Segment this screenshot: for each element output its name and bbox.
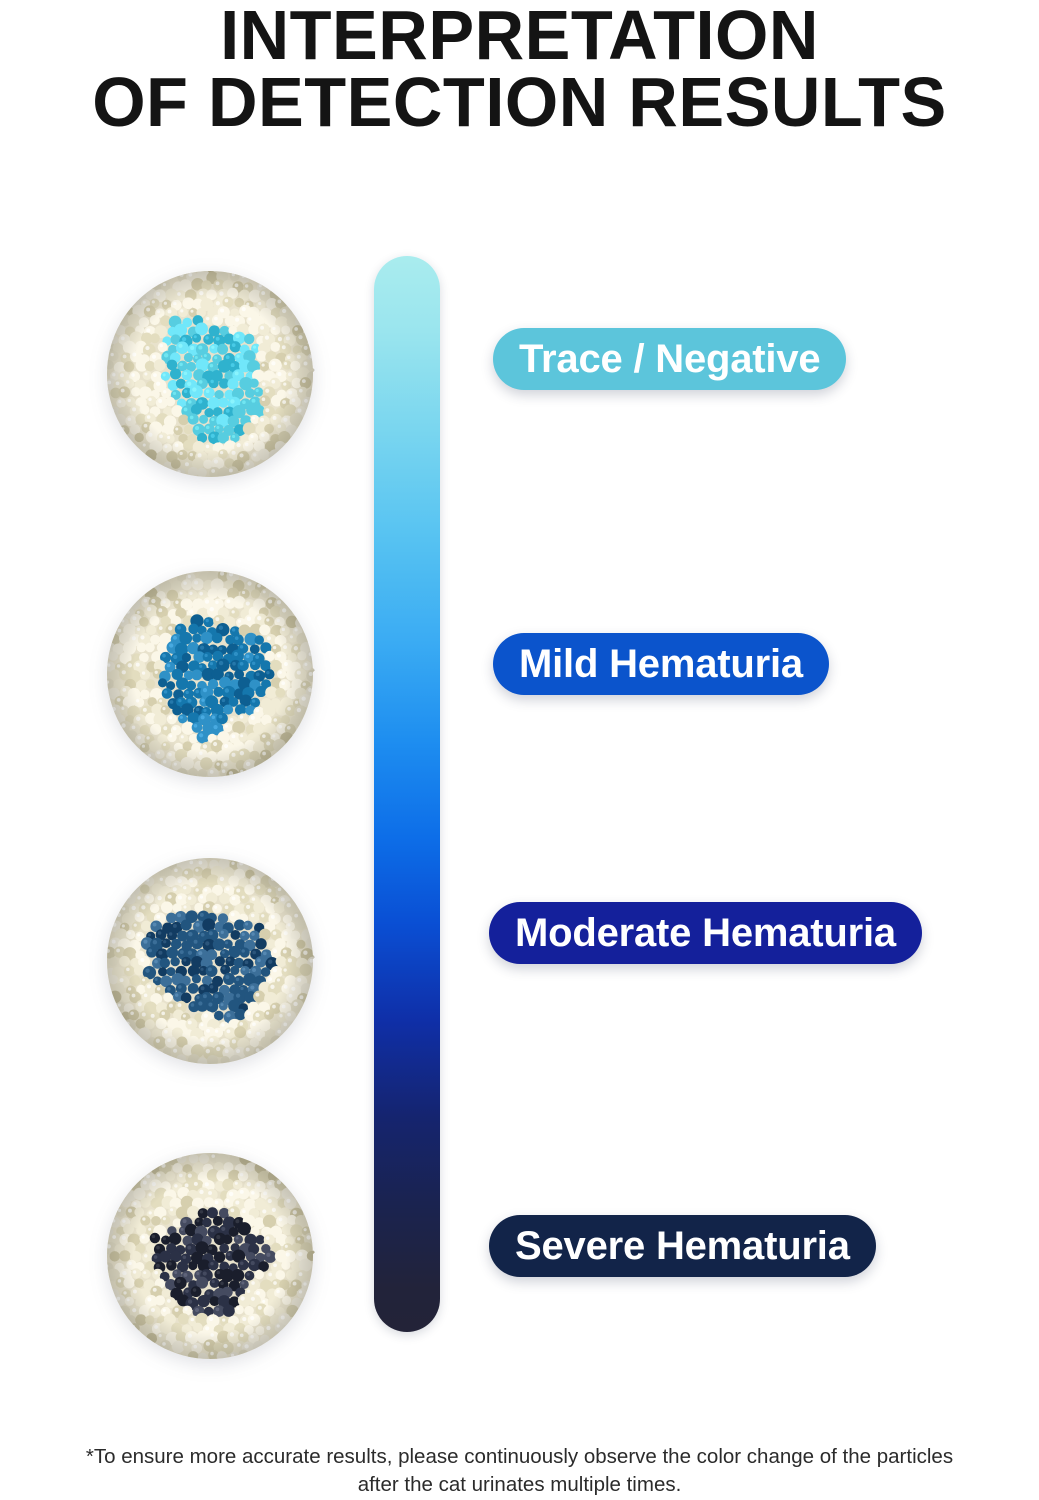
- sample-moderate-hematuria: [104, 855, 316, 1067]
- sample-severe-hematuria: [104, 1150, 316, 1362]
- result-label-trace-negative[interactable]: Trace / Negative: [493, 328, 846, 390]
- result-label-text: Severe Hematuria: [515, 1224, 850, 1269]
- results-interpretation-diagram: Trace / Negative Mild Hematuria Moderate…: [0, 0, 1039, 1500]
- result-label-text: Trace / Negative: [519, 337, 820, 382]
- result-label-moderate-hematuria[interactable]: Moderate Hematuria: [489, 902, 922, 964]
- footnote-disclaimer: *To ensure more accurate results, please…: [80, 1443, 960, 1498]
- result-label-text: Moderate Hematuria: [515, 911, 896, 956]
- severity-gradient-scale-bar: [374, 256, 440, 1332]
- sample-mild-hematuria: [104, 568, 316, 780]
- result-label-severe-hematuria[interactable]: Severe Hematuria: [489, 1215, 876, 1277]
- result-label-mild-hematuria[interactable]: Mild Hematuria: [493, 633, 829, 695]
- result-label-text: Mild Hematuria: [519, 642, 803, 687]
- sample-trace-negative: [104, 268, 316, 480]
